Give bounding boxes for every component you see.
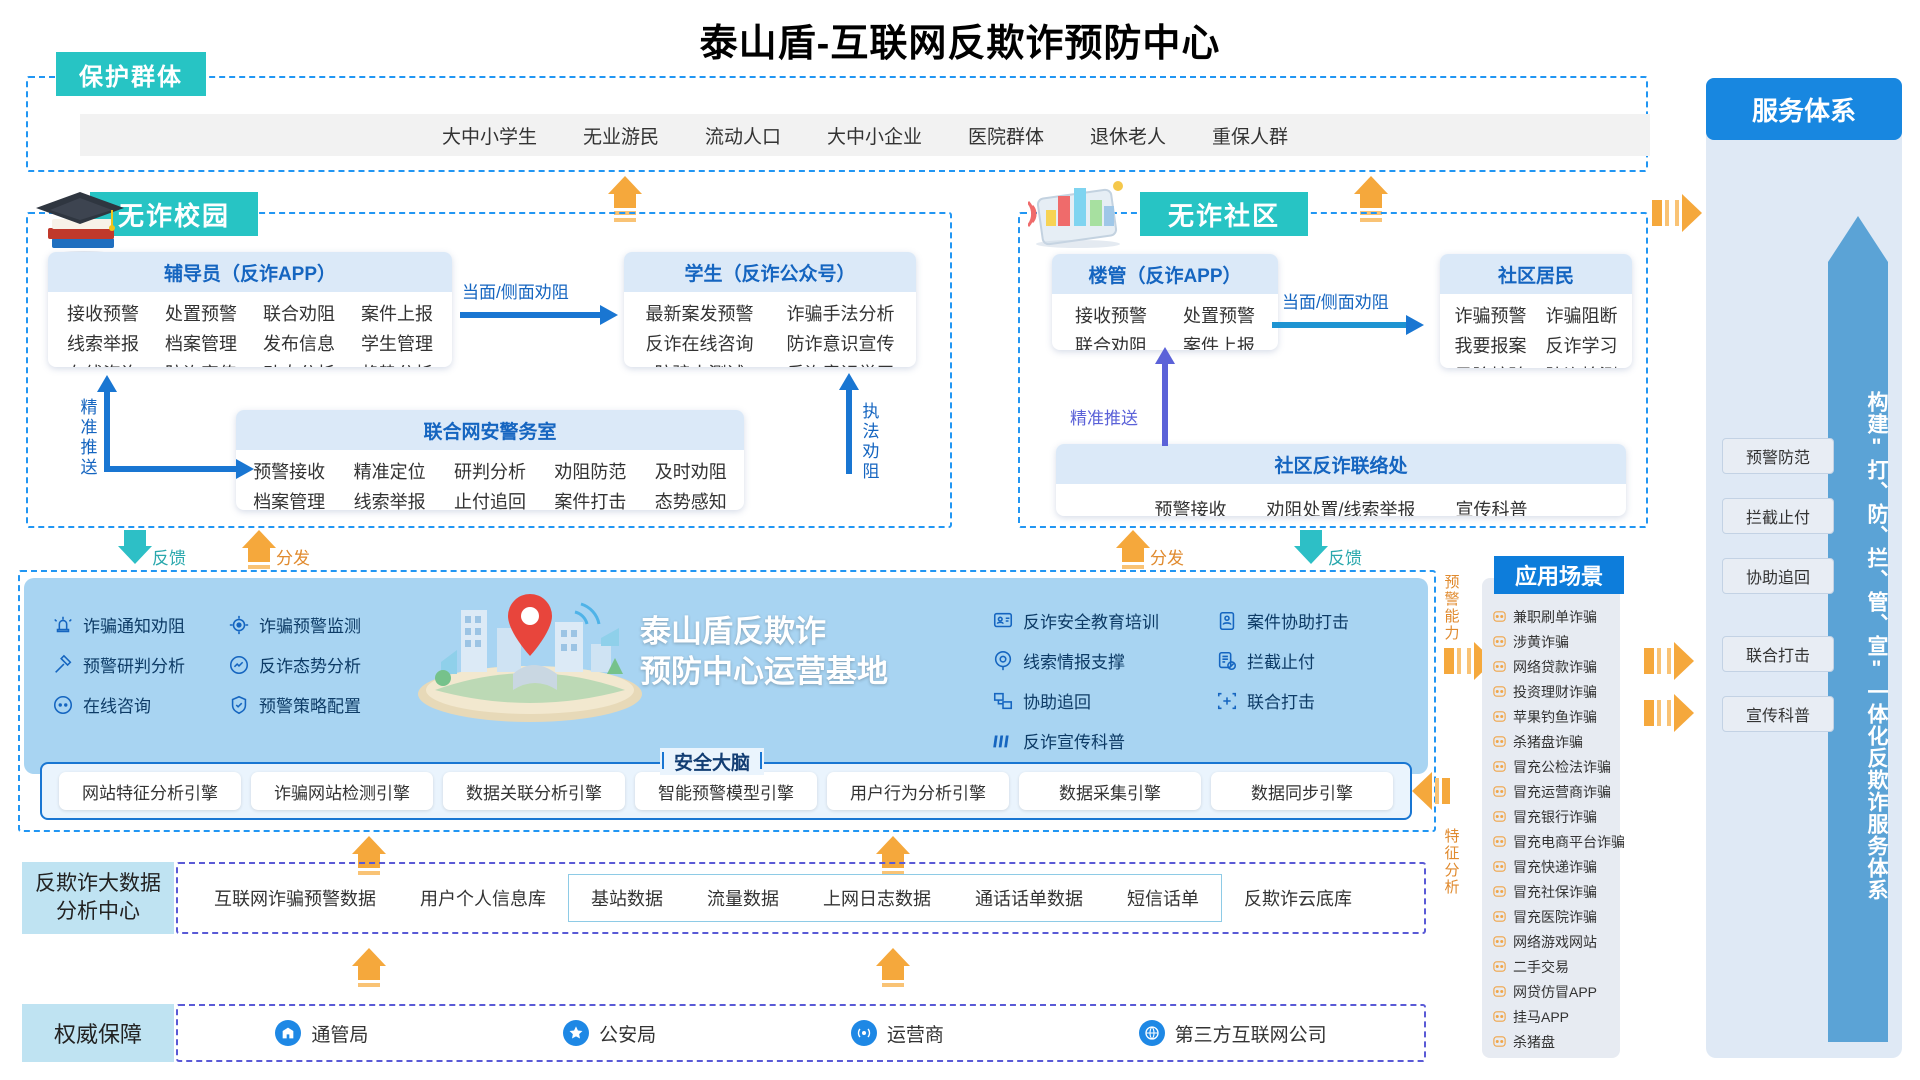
authority-to-bigdata-arrow-left bbox=[358, 948, 380, 987]
operations-feature: 案件协助打击 bbox=[1216, 608, 1349, 633]
operations-feature-label: 预警策略配置 bbox=[259, 692, 361, 717]
counselor-feature: 线索举报 bbox=[67, 330, 139, 356]
block-payment-icon bbox=[1216, 650, 1238, 672]
community-liaison-feature: 宣传科普 bbox=[1456, 496, 1528, 516]
scenario-item[interactable]: 冒充运营商诈骗 bbox=[1492, 779, 1618, 804]
student-feature: 诈骗手法分析 bbox=[787, 300, 895, 326]
feedback-arrow-community bbox=[1300, 530, 1322, 564]
scenario-item[interactable]: 杀猪盘 bbox=[1492, 1029, 1618, 1054]
student-feature: 防骗小测试 bbox=[655, 360, 745, 367]
community-push-label: 精准推送 bbox=[1070, 404, 1138, 429]
campus-enforce-arrow bbox=[846, 388, 852, 474]
scenario-item[interactable]: 投资理财诈骗 bbox=[1492, 679, 1618, 704]
fraud-mask-icon bbox=[1492, 634, 1507, 649]
service-button-joint-strike[interactable]: 联合打击 bbox=[1722, 636, 1834, 672]
counselor-card-title: 辅导员（反诈APP） bbox=[48, 252, 452, 292]
counselor-feature: 防诈宣传 bbox=[165, 360, 237, 367]
police-office-feature: 案件打击 bbox=[554, 488, 626, 510]
campus-dissuade-label: 当面/侧面劝阻 bbox=[462, 278, 569, 303]
fraud-mask-icon bbox=[1492, 709, 1507, 724]
scenarios-list: 兼职刷单诈骗 涉黄诈骗 网络贷款诈骗 投资理财诈骗 苹果钓鱼诈骗 杀猪盘诈骗 冒… bbox=[1492, 604, 1618, 1054]
counselor-card: 辅导员（反诈APP） 接收预警 处置预警 联合劝阻 案件上报 线索举报 档案管理… bbox=[48, 252, 452, 367]
scenario-label: 杀猪盘诈骗 bbox=[1513, 732, 1583, 752]
headset-icon bbox=[52, 694, 74, 716]
fraud-mask-icon bbox=[1492, 909, 1507, 924]
operations-feature: 拦截止付 bbox=[1216, 648, 1349, 673]
service-system-ribbon-text: 构建"打、防、拦、管、宣"一体化反欺诈服务体系 bbox=[1828, 276, 1888, 1016]
operations-city-illustration bbox=[405, 566, 655, 726]
bigdata-source: 流量数据 bbox=[685, 885, 801, 911]
operations-feature: 预警策略配置 bbox=[228, 692, 361, 717]
student-feature: 最新案发预警 bbox=[646, 300, 754, 326]
operations-feature-label: 诈骗预警监测 bbox=[259, 612, 361, 637]
operations-feature: 诈骗预警监测 bbox=[228, 612, 361, 637]
engine-item[interactable]: 数据关联分析引擎 bbox=[443, 772, 625, 810]
fraud-mask-icon bbox=[1492, 1009, 1507, 1024]
security-brain-title: 安全大脑 bbox=[660, 748, 764, 775]
student-feature-grid: 最新案发预警 诈骗手法分析 反诈在线咨询 防诈意识宣传 防骗小测试 反诈意识学习 bbox=[638, 300, 902, 367]
operations-feature-label: 反诈态势分析 bbox=[259, 652, 361, 677]
community-dissuade-arrow bbox=[1272, 322, 1408, 328]
police-office-feature: 态势感知 bbox=[655, 488, 727, 510]
operations-feature-label: 反诈安全教育培训 bbox=[1023, 608, 1159, 633]
police-office-title: 联合网安警务室 bbox=[236, 410, 744, 450]
counselor-feature: 趋势分析 bbox=[361, 360, 433, 367]
operations-center-title-line1: 泰山盾反欺诈 bbox=[640, 612, 960, 652]
operations-center-title: 泰山盾反欺诈 预防中心运营基地 bbox=[640, 612, 960, 693]
chart-circle-icon bbox=[228, 654, 250, 676]
building-icon bbox=[275, 1020, 301, 1046]
scenario-item[interactable]: 冒充电商平台诈骗 bbox=[1492, 829, 1618, 854]
promotion-icon bbox=[992, 730, 1014, 752]
police-office-feature: 档案管理 bbox=[253, 488, 325, 510]
distribute-arrow-community bbox=[1122, 530, 1144, 569]
feedback-label-community: 反馈 bbox=[1328, 544, 1362, 569]
scenario-label: 二手交易 bbox=[1513, 957, 1569, 977]
operations-feature-label: 协助追回 bbox=[1023, 688, 1091, 713]
distribute-label-campus: 分发 bbox=[276, 544, 310, 569]
counselor-feature: 处置预警 bbox=[165, 300, 237, 326]
feedback-label-campus: 反馈 bbox=[152, 544, 186, 569]
operations-feature-label: 案件协助打击 bbox=[1247, 608, 1349, 633]
authority-region: 通管局 公安局 运营商 第三方互联网公司 bbox=[176, 1004, 1426, 1062]
scenario-item[interactable]: 挂马APP bbox=[1492, 1004, 1618, 1029]
engine-item[interactable]: 数据采集引擎 bbox=[1019, 772, 1201, 810]
case-strike-icon bbox=[1216, 610, 1238, 632]
protected-group-item: 流动人口 bbox=[705, 122, 781, 149]
authority-item-label: 运营商 bbox=[887, 1020, 944, 1047]
feedback-arrow-campus bbox=[124, 530, 146, 564]
fraud-mask-icon bbox=[1492, 809, 1507, 824]
fraud-mask-icon bbox=[1492, 1034, 1507, 1049]
operations-feature: 诈骗通知劝阻 bbox=[52, 612, 185, 637]
counselor-feature: 联合劝阻 bbox=[263, 300, 335, 326]
fraud-mask-icon bbox=[1492, 884, 1507, 899]
scenarios-title: 应用场景 bbox=[1494, 556, 1624, 594]
counselor-feature-grid: 接收预警 处置预警 联合劝阻 案件上报 线索举报 档案管理 发布信息 学生管理 … bbox=[62, 300, 438, 367]
operations-feature: 在线咨询 bbox=[52, 692, 185, 717]
campus-push-arrow bbox=[104, 390, 110, 472]
authority-item-label: 通管局 bbox=[311, 1020, 368, 1047]
protected-group-item: 大中小企业 bbox=[827, 122, 922, 149]
protected-group-item: 医院群体 bbox=[968, 122, 1044, 149]
student-feature: 反诈在线咨询 bbox=[646, 330, 754, 356]
scenario-item[interactable]: 兼职刷单诈骗 bbox=[1492, 604, 1618, 629]
protected-group-item: 重保人群 bbox=[1212, 122, 1288, 149]
police-office-feature: 线索举报 bbox=[354, 488, 426, 510]
scenario-item[interactable]: 冒充快递诈骗 bbox=[1492, 854, 1618, 879]
scenario-label: 挂马APP bbox=[1513, 1007, 1569, 1027]
scenario-label: 冒充医院诈骗 bbox=[1513, 907, 1597, 927]
protected-groups-chip: 保护群体 bbox=[56, 52, 206, 96]
service-button-warning[interactable]: 预警防范 bbox=[1722, 438, 1834, 474]
residents-feature: 诈骗预警 bbox=[1455, 302, 1527, 328]
recover-icon bbox=[992, 690, 1014, 712]
scenario-label: 冒充银行诈骗 bbox=[1513, 807, 1597, 827]
service-system-title: 服务体系 bbox=[1706, 78, 1902, 140]
authority-item: 通管局 bbox=[275, 1020, 368, 1047]
scenario-item[interactable]: 网贷仿冒APP bbox=[1492, 979, 1618, 1004]
operations-feature-label: 拦截止付 bbox=[1247, 648, 1315, 673]
fraud-mask-icon bbox=[1492, 609, 1507, 624]
engine-item[interactable]: 诈骗网站检测引擎 bbox=[251, 772, 433, 810]
community-liaison-card: 社区反诈联络处 预警接收 劝阻处置/线索举报 宣传科普 bbox=[1056, 444, 1626, 516]
building-manager-card: 楼管（反诈APP） 接收预警 处置预警 联合劝阻 案件上报 bbox=[1052, 254, 1278, 350]
service-button-promotion[interactable]: 宣传科普 bbox=[1722, 696, 1834, 732]
operations-feature: 反诈宣传科普 bbox=[992, 728, 1159, 753]
bigdata-label-line1: 反欺诈大数据 bbox=[35, 870, 161, 898]
scenario-item[interactable]: 冒充公检法诈骗 bbox=[1492, 754, 1618, 779]
police-office-feature: 及时劝阻 bbox=[655, 458, 727, 484]
bigdata-source: 互联网诈骗预警数据 bbox=[192, 885, 398, 911]
authority-to-bigdata-arrow-right bbox=[882, 948, 904, 987]
bigdata-source: 用户个人信息库 bbox=[398, 885, 568, 911]
community-dissuade-label: 当面/侧面劝阻 bbox=[1282, 288, 1389, 313]
counselor-feature: 动态分析 bbox=[263, 360, 335, 367]
protected-groups-bar: 大中小学生 无业游民 流动人口 大中小企业 医院群体 退休老人 重保人群 bbox=[80, 114, 1650, 156]
protected-group-item: 退休老人 bbox=[1090, 122, 1166, 149]
operations-left-features-col1: 诈骗通知劝阻 预警研判分析 在线咨询 bbox=[52, 612, 185, 717]
service-system-ribbon: 构建"打、防、拦、管、宣"一体化反欺诈服务体系 bbox=[1828, 262, 1888, 1042]
counselor-feature: 档案管理 bbox=[165, 330, 237, 356]
operations-feature: 线索情报支撑 bbox=[992, 648, 1159, 673]
community-chip: 无诈社区 bbox=[1140, 192, 1308, 236]
building-manager-feature: 联合劝阻 bbox=[1075, 332, 1147, 350]
student-card: 学生（反诈公众号） 最新案发预警 诈骗手法分析 反诈在线咨询 防诈意识宣传 防骗… bbox=[624, 252, 916, 367]
student-card-title: 学生（反诈公众号） bbox=[624, 252, 916, 292]
authority-item: 运营商 bbox=[851, 1020, 944, 1047]
operations-feature-label: 诈骗通知劝阻 bbox=[83, 612, 185, 637]
student-feature: 反诈意识学习 bbox=[787, 360, 895, 367]
bigdata-source: 短信话单 bbox=[1105, 885, 1221, 911]
operations-feature-label: 在线咨询 bbox=[83, 692, 151, 717]
building-manager-feature: 处置预警 bbox=[1183, 302, 1255, 328]
counselor-feature: 接收预警 bbox=[67, 300, 139, 326]
protected-groups-region: 保护群体 大中小学生 无业游民 流动人口 大中小企业 医院群体 退休老人 重保人… bbox=[26, 76, 1648, 172]
building-manager-title: 楼管（反诈APP） bbox=[1052, 254, 1278, 294]
warning-ability-label: 预警能力 bbox=[1444, 574, 1460, 642]
target-icon bbox=[228, 614, 250, 636]
distribute-arrow-campus bbox=[248, 530, 270, 569]
residents-feature: 诈骗阻断 bbox=[1546, 302, 1618, 328]
community-liaison-feature-row: 预警接收 劝阻处置/线索举报 宣传科普 bbox=[1070, 492, 1612, 516]
operations-feature-label: 预警研判分析 bbox=[83, 652, 185, 677]
engine-item[interactable]: 网站特征分析引擎 bbox=[59, 772, 241, 810]
residents-title: 社区居民 bbox=[1440, 254, 1632, 294]
engine-item[interactable]: 数据同步引擎 bbox=[1211, 772, 1393, 810]
scenario-label: 冒充社保诈骗 bbox=[1513, 882, 1597, 902]
residents-feature: 防诈检测 bbox=[1546, 362, 1618, 368]
fraud-mask-icon bbox=[1492, 834, 1507, 849]
fraud-mask-icon bbox=[1492, 984, 1507, 999]
operations-feature: 联合打击 bbox=[1216, 688, 1349, 713]
distribute-label-community: 分发 bbox=[1150, 544, 1184, 569]
bigdata-source: 上网日志数据 bbox=[801, 885, 953, 911]
scenario-item[interactable]: 网络游戏网站 bbox=[1492, 929, 1618, 954]
bigdata-region: 互联网诈骗预警数据 用户个人信息库 基站数据 流量数据 上网日志数据 通话话单数… bbox=[176, 862, 1426, 934]
engine-item[interactable]: 智能预警模型引擎 bbox=[635, 772, 817, 810]
operations-feature: 反诈安全教育培训 bbox=[992, 608, 1159, 633]
counselor-feature: 在线咨询 bbox=[67, 360, 139, 367]
scenario-item[interactable]: 冒充社保诈骗 bbox=[1492, 879, 1618, 904]
scenario-item[interactable]: 涉黄诈骗 bbox=[1492, 629, 1618, 654]
authority-label: 权威保障 bbox=[22, 1004, 174, 1062]
protected-group-item: 无业游民 bbox=[583, 122, 659, 149]
operations-left-features-col2: 诈骗预警监测 反诈态势分析 预警策略配置 bbox=[228, 612, 361, 717]
community-liaison-feature: 劝阻处置/线索举报 bbox=[1266, 496, 1415, 516]
police-office-feature: 止付追回 bbox=[454, 488, 526, 510]
signal-icon bbox=[851, 1020, 877, 1046]
service-arrow-mid bbox=[1644, 648, 1694, 674]
scenario-item[interactable]: 冒充银行诈骗 bbox=[1492, 804, 1618, 829]
scenario-label: 冒充快递诈骗 bbox=[1513, 857, 1597, 877]
service-arrow-top bbox=[1652, 200, 1702, 226]
scenario-label: 冒充公检法诈骗 bbox=[1513, 757, 1611, 777]
community-liaison-title: 社区反诈联络处 bbox=[1056, 444, 1626, 484]
service-button-recover[interactable]: 协助追回 bbox=[1722, 558, 1834, 594]
fraud-mask-icon bbox=[1492, 859, 1507, 874]
operations-feature-label: 反诈宣传科普 bbox=[1023, 728, 1125, 753]
scenario-item[interactable]: 二手交易 bbox=[1492, 954, 1618, 979]
fraud-mask-icon bbox=[1492, 734, 1507, 749]
bigdata-source: 基站数据 bbox=[569, 885, 685, 911]
scenario-label: 网络游戏网站 bbox=[1513, 932, 1597, 952]
bigdata-label-line2: 分析中心 bbox=[35, 898, 161, 926]
counselor-feature: 学生管理 bbox=[361, 330, 433, 356]
scenario-item[interactable]: 杀猪盘诈骗 bbox=[1492, 729, 1618, 754]
residents-feature: 我要报案 bbox=[1455, 332, 1527, 358]
campus-enforce-label: 执法劝阻 bbox=[862, 402, 880, 482]
scenario-label: 兼职刷单诈骗 bbox=[1513, 607, 1597, 627]
police-office-card: 联合网安警务室 预警接收 精准定位 研判分析 劝阻防范 及时劝阻 档案管理 线索… bbox=[236, 410, 744, 510]
police-office-feature: 研判分析 bbox=[454, 458, 526, 484]
building-manager-feature: 接收预警 bbox=[1075, 302, 1147, 328]
police-office-feature: 预警接收 bbox=[253, 458, 325, 484]
campus-dissuade-arrow bbox=[460, 312, 602, 318]
operations-center-title-line2: 预防中心运营基地 bbox=[640, 652, 960, 692]
authority-item: 公安局 bbox=[563, 1020, 656, 1047]
scenario-label: 冒充电商平台诈骗 bbox=[1513, 832, 1625, 852]
police-office-feature: 精准定位 bbox=[354, 458, 426, 484]
page-title: 泰山盾-互联网反欺诈预防中心 bbox=[0, 12, 1920, 67]
counselor-feature: 发布信息 bbox=[263, 330, 335, 356]
scenario-label: 投资理财诈骗 bbox=[1513, 682, 1597, 702]
bigdata-source: 反欺诈云底库 bbox=[1222, 885, 1374, 911]
campus-push-connector bbox=[104, 466, 238, 472]
scenario-label: 杀猪盘 bbox=[1513, 1032, 1555, 1052]
joint-strike-icon bbox=[1216, 690, 1238, 712]
building-manager-feature-grid: 接收预警 处置预警 联合劝阻 案件上报 bbox=[1066, 302, 1264, 350]
shield-config-icon bbox=[228, 694, 250, 716]
operations-feature: 反诈态势分析 bbox=[228, 652, 361, 677]
scenario-label: 涉黄诈骗 bbox=[1513, 632, 1569, 652]
campus-push-label: 精准推送 bbox=[80, 398, 98, 478]
service-arrow-bottom bbox=[1644, 700, 1694, 726]
operations-feature-label: 联合打击 bbox=[1247, 688, 1315, 713]
bigdata-source: 通话话单数据 bbox=[953, 885, 1105, 911]
globe-icon bbox=[1139, 1020, 1165, 1046]
protected-group-item: 大中小学生 bbox=[442, 122, 537, 149]
star-badge-icon bbox=[563, 1020, 589, 1046]
feature-analysis-label: 特征分析 bbox=[1444, 828, 1460, 896]
scenario-label: 网贷仿冒APP bbox=[1513, 982, 1597, 1002]
operations-right-features-col1: 反诈安全教育培训 线索情报支撑 协助追回 反诈宣传科普 bbox=[992, 608, 1159, 753]
fraud-mask-icon bbox=[1492, 959, 1507, 974]
training-icon bbox=[992, 610, 1014, 632]
operations-feature: 协助追回 bbox=[992, 688, 1159, 713]
fraud-mask-icon bbox=[1492, 934, 1507, 949]
residents-feature: 反诈学习 bbox=[1546, 332, 1618, 358]
residents-feature: 风险核验 bbox=[1455, 362, 1527, 368]
scenario-label: 网络贷款诈骗 bbox=[1513, 657, 1597, 677]
intel-icon bbox=[992, 650, 1014, 672]
scenario-item[interactable]: 冒充医院诈骗 bbox=[1492, 904, 1618, 929]
fraud-mask-icon bbox=[1492, 659, 1507, 674]
engine-item[interactable]: 用户行为分析引擎 bbox=[827, 772, 1009, 810]
fraud-mask-icon bbox=[1492, 784, 1507, 799]
community-liaison-feature: 预警接收 bbox=[1154, 496, 1226, 516]
bigdata-label: 反欺诈大数据 分析中心 bbox=[22, 862, 174, 934]
operations-right-features-col2: 案件协助打击 拦截止付 联合打击 bbox=[1216, 608, 1349, 713]
student-feature: 防诈意识宣传 bbox=[787, 330, 895, 356]
police-office-feature: 劝阻防范 bbox=[554, 458, 626, 484]
authority-item-label: 公安局 bbox=[599, 1020, 656, 1047]
feature-analysis-arrow bbox=[1412, 778, 1450, 804]
scenario-label: 苹果钓鱼诈骗 bbox=[1513, 707, 1597, 727]
operations-feature-label: 线索情报支撑 bbox=[1023, 648, 1125, 673]
alarm-icon bbox=[52, 614, 74, 636]
residents-feature-grid: 诈骗预警 诈骗阻断 我要报案 反诈学习 风险核验 防诈检测 bbox=[1454, 302, 1618, 368]
authority-item-label: 第三方互联网公司 bbox=[1175, 1020, 1327, 1047]
scenario-item[interactable]: 苹果钓鱼诈骗 bbox=[1492, 704, 1618, 729]
smart-community-icon bbox=[1028, 176, 1146, 248]
bigdata-telecom-group: 基站数据 流量数据 上网日志数据 通话话单数据 短信话单 bbox=[568, 874, 1222, 922]
community-push-arrow bbox=[1162, 362, 1168, 446]
police-office-feature-grid: 预警接收 精准定位 研判分析 劝阻防范 及时劝阻 档案管理 线索举报 止付追回 … bbox=[250, 458, 730, 510]
residents-card: 社区居民 诈骗预警 诈骗阻断 我要报案 反诈学习 风险核验 防诈检测 bbox=[1440, 254, 1632, 368]
building-manager-feature: 案件上报 bbox=[1183, 332, 1255, 350]
fraud-mask-icon bbox=[1492, 684, 1507, 699]
scenario-item[interactable]: 网络贷款诈骗 bbox=[1492, 654, 1618, 679]
counselor-feature: 案件上报 bbox=[361, 300, 433, 326]
gavel-icon bbox=[52, 654, 74, 676]
service-button-intercept[interactable]: 拦截止付 bbox=[1722, 498, 1834, 534]
fraud-mask-icon bbox=[1492, 759, 1507, 774]
scenario-label: 冒充运营商诈骗 bbox=[1513, 782, 1611, 802]
authority-item: 第三方互联网公司 bbox=[1139, 1020, 1327, 1047]
operations-feature: 预警研判分析 bbox=[52, 652, 185, 677]
